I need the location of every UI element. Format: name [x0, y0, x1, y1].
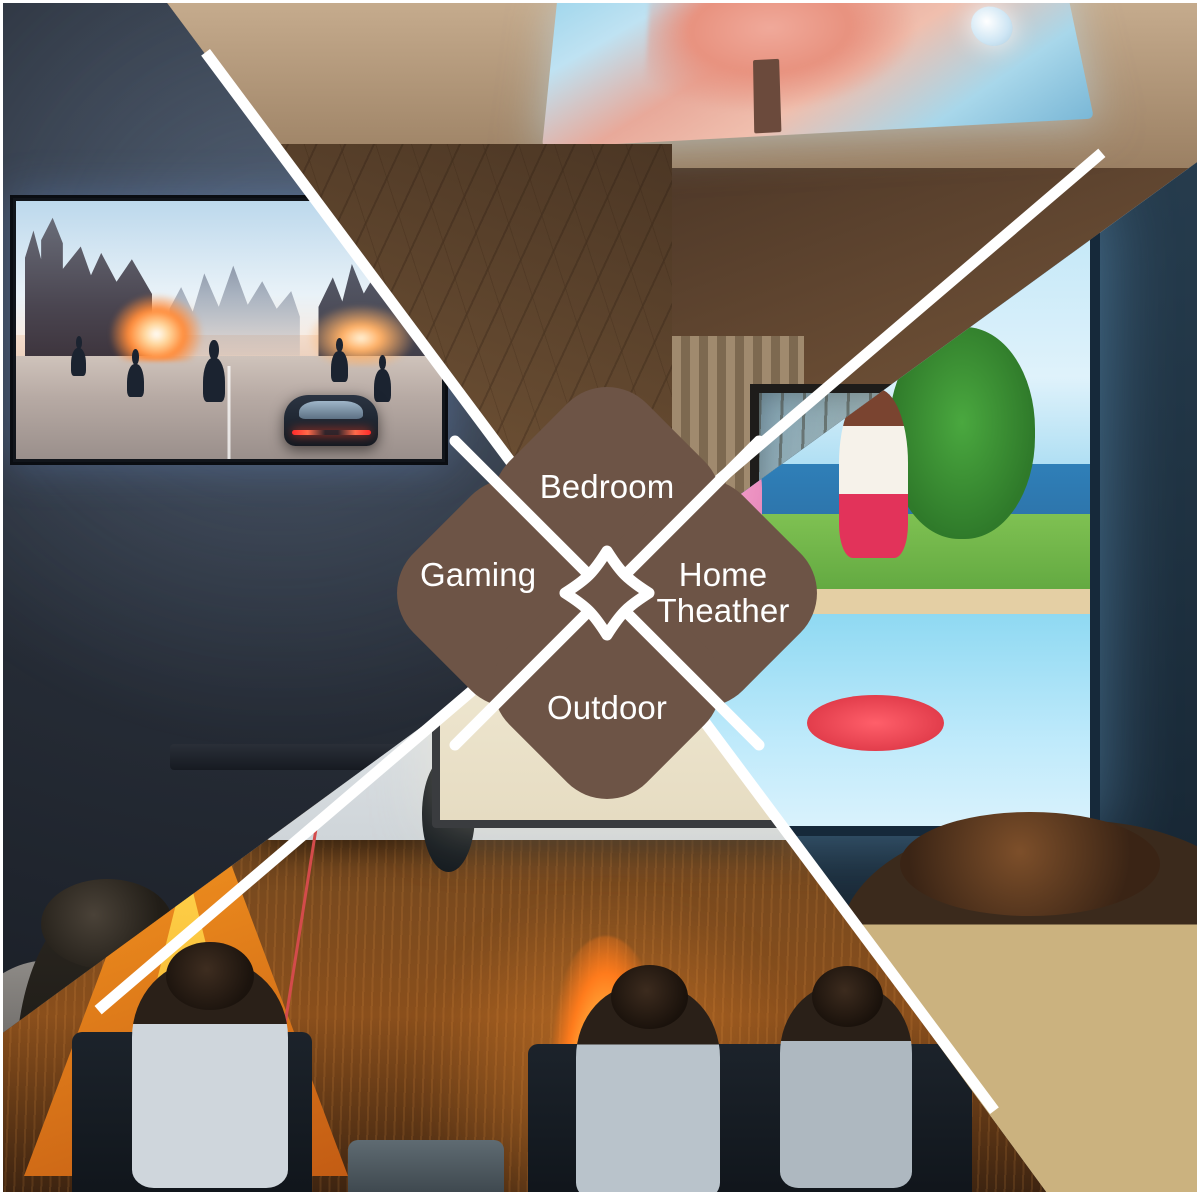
lobe-label-home-theater: Home Theather	[643, 557, 803, 628]
frame-edge-top	[0, 0, 1200, 3]
lobe-label-gaming: Gaming	[420, 557, 536, 593]
game-soldier	[203, 358, 224, 402]
game-soldier	[127, 364, 144, 398]
projection-moon	[968, 6, 1015, 47]
frame-edge-left	[0, 0, 3, 1200]
game-soldier	[331, 351, 348, 382]
projection-tree-trunk	[753, 59, 782, 133]
outdoor-duffel-bag	[348, 1140, 504, 1200]
game-soldier	[374, 369, 391, 403]
projection-cherry-tree	[644, 0, 928, 119]
frame-edge-bottom	[0, 1192, 1200, 1200]
game-road-line	[228, 366, 231, 459]
game-sports-car	[284, 395, 378, 447]
lobe-label-outdoor: Outdoor	[547, 690, 667, 726]
usage-scenarios-pinwheel: Bedroom Gaming Home Theather Outdoor	[403, 393, 811, 793]
outdoor-viewer-one	[132, 960, 288, 1188]
game-soldier	[71, 348, 86, 376]
gaming-media-console	[170, 744, 400, 770]
collage-canvas: Bedroom Gaming Home Theather Outdoor	[0, 0, 1200, 1200]
game-explosion-left	[110, 294, 204, 361]
outdoor-viewer-three	[780, 984, 912, 1188]
outdoor-viewer-two	[576, 984, 720, 1200]
lobe-label-bedroom: Bedroom	[540, 469, 675, 505]
